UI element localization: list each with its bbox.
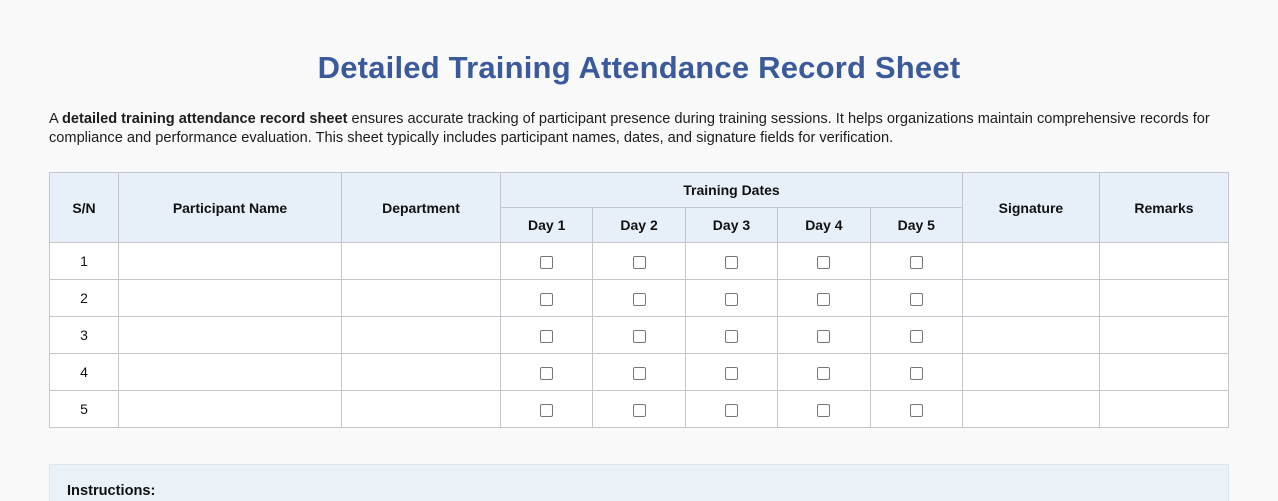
row-signature-cell[interactable] [962, 354, 1099, 391]
row-participant-name-cell[interactable] [119, 280, 342, 317]
checkbox-icon[interactable] [725, 256, 738, 269]
row-signature-cell[interactable] [962, 317, 1099, 354]
column-header-day-2: Day 2 [593, 208, 685, 243]
checkbox-icon[interactable] [540, 293, 553, 306]
column-header-remarks: Remarks [1099, 173, 1228, 243]
attendance-checkbox-cell-day-2[interactable] [593, 354, 685, 391]
attendance-checkbox-cell-day-4[interactable] [778, 317, 870, 354]
row-signature-cell[interactable] [962, 243, 1099, 280]
checkbox-icon[interactable] [633, 404, 646, 417]
attendance-checkbox-cell-day-2[interactable] [593, 317, 685, 354]
checkbox-icon[interactable] [633, 293, 646, 306]
checkbox-icon[interactable] [910, 293, 923, 306]
row-department-cell[interactable] [342, 243, 501, 280]
attendance-checkbox-cell-day-5[interactable] [870, 354, 962, 391]
table-row: 3 [50, 317, 1229, 354]
attendance-checkbox-cell-day-3[interactable] [685, 354, 777, 391]
attendance-checkbox-cell-day-3[interactable] [685, 317, 777, 354]
checkbox-icon[interactable] [633, 256, 646, 269]
checkbox-icon[interactable] [910, 330, 923, 343]
table-row: 5 [50, 391, 1229, 428]
column-header-day-4: Day 4 [778, 208, 870, 243]
checkbox-icon[interactable] [817, 367, 830, 380]
attendance-checkbox-cell-day-5[interactable] [870, 243, 962, 280]
row-department-cell[interactable] [342, 354, 501, 391]
attendance-checkbox-cell-day-1[interactable] [501, 280, 593, 317]
checkbox-icon[interactable] [725, 293, 738, 306]
row-participant-name-cell[interactable] [119, 243, 342, 280]
row-department-cell[interactable] [342, 391, 501, 428]
attendance-checkbox-cell-day-4[interactable] [778, 391, 870, 428]
page-title: Detailed Training Attendance Record Shee… [0, 0, 1278, 86]
checkbox-icon[interactable] [633, 330, 646, 343]
attendance-checkbox-cell-day-1[interactable] [501, 391, 593, 428]
checkbox-icon[interactable] [817, 404, 830, 417]
column-header-participant-name: Participant Name [119, 173, 342, 243]
attendance-checkbox-cell-day-2[interactable] [593, 391, 685, 428]
column-header-signature: Signature [962, 173, 1099, 243]
row-department-cell[interactable] [342, 280, 501, 317]
attendance-checkbox-cell-day-5[interactable] [870, 391, 962, 428]
attendance-table: S/N Participant Name Department Training… [49, 172, 1229, 428]
checkbox-icon[interactable] [725, 367, 738, 380]
intro-paragraph: A detailed training attendance record sh… [0, 86, 1278, 148]
attendance-checkbox-cell-day-3[interactable] [685, 280, 777, 317]
column-header-day-1: Day 1 [501, 208, 593, 243]
attendance-checkbox-cell-day-4[interactable] [778, 243, 870, 280]
column-header-day-3: Day 3 [685, 208, 777, 243]
table-row: 4 [50, 354, 1229, 391]
attendance-checkbox-cell-day-1[interactable] [501, 243, 593, 280]
attendance-checkbox-cell-day-1[interactable] [501, 317, 593, 354]
column-header-sn: S/N [50, 173, 119, 243]
intro-lead: A [49, 111, 62, 127]
row-signature-cell[interactable] [962, 280, 1099, 317]
row-department-cell[interactable] [342, 317, 501, 354]
row-remarks-cell[interactable] [1099, 243, 1228, 280]
intro-bold-phrase: detailed training attendance record shee… [62, 111, 347, 127]
checkbox-icon[interactable] [817, 293, 830, 306]
row-remarks-cell[interactable] [1099, 317, 1228, 354]
attendance-checkbox-cell-day-1[interactable] [501, 354, 593, 391]
checkbox-icon[interactable] [540, 404, 553, 417]
attendance-checkbox-cell-day-3[interactable] [685, 391, 777, 428]
row-sn: 3 [50, 317, 119, 354]
column-header-department: Department [342, 173, 501, 243]
row-sn: 1 [50, 243, 119, 280]
checkbox-icon[interactable] [540, 330, 553, 343]
attendance-checkbox-cell-day-4[interactable] [778, 354, 870, 391]
checkbox-icon[interactable] [910, 367, 923, 380]
row-remarks-cell[interactable] [1099, 280, 1228, 317]
table-header: S/N Participant Name Department Training… [50, 173, 1229, 243]
row-remarks-cell[interactable] [1099, 391, 1228, 428]
table-body: 12345 [50, 243, 1229, 428]
instructions-title: Instructions: [67, 483, 155, 499]
column-header-day-5: Day 5 [870, 208, 962, 243]
checkbox-icon[interactable] [910, 256, 923, 269]
row-participant-name-cell[interactable] [119, 317, 342, 354]
checkbox-icon[interactable] [540, 367, 553, 380]
column-header-training-dates: Training Dates [501, 173, 963, 208]
attendance-checkbox-cell-day-3[interactable] [685, 243, 777, 280]
row-sn: 5 [50, 391, 119, 428]
instructions-panel: Instructions: [49, 464, 1229, 501]
table-row: 2 [50, 280, 1229, 317]
row-remarks-cell[interactable] [1099, 354, 1228, 391]
attendance-checkbox-cell-day-5[interactable] [870, 317, 962, 354]
attendance-checkbox-cell-day-5[interactable] [870, 280, 962, 317]
page-root: Detailed Training Attendance Record Shee… [0, 0, 1278, 501]
row-participant-name-cell[interactable] [119, 391, 342, 428]
checkbox-icon[interactable] [817, 330, 830, 343]
checkbox-icon[interactable] [817, 256, 830, 269]
checkbox-icon[interactable] [633, 367, 646, 380]
checkbox-icon[interactable] [540, 256, 553, 269]
table-row: 1 [50, 243, 1229, 280]
attendance-checkbox-cell-day-4[interactable] [778, 280, 870, 317]
row-participant-name-cell[interactable] [119, 354, 342, 391]
row-sn: 2 [50, 280, 119, 317]
header-row-primary: S/N Participant Name Department Training… [50, 173, 1229, 208]
checkbox-icon[interactable] [725, 404, 738, 417]
attendance-checkbox-cell-day-2[interactable] [593, 243, 685, 280]
attendance-checkbox-cell-day-2[interactable] [593, 280, 685, 317]
checkbox-icon[interactable] [910, 404, 923, 417]
row-sn: 4 [50, 354, 119, 391]
checkbox-icon[interactable] [725, 330, 738, 343]
row-signature-cell[interactable] [962, 391, 1099, 428]
